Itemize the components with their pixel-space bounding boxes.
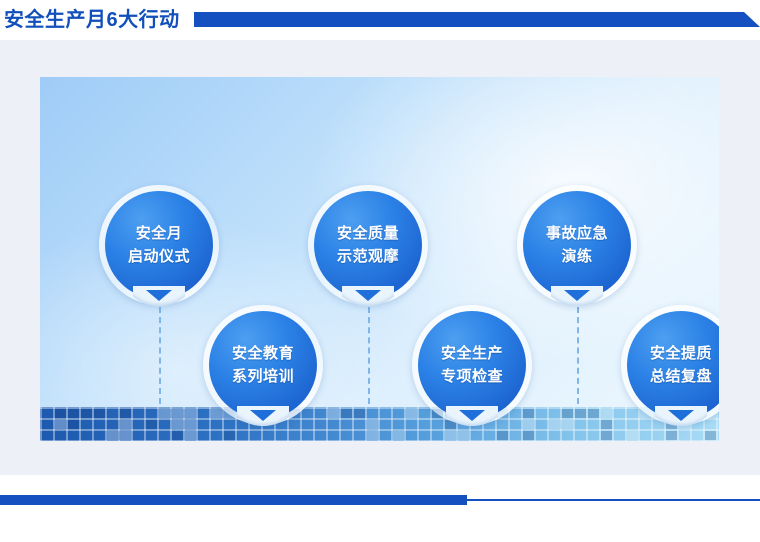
base-speck — [666, 431, 677, 440]
bubble-3-label-line2: 示范观摩 — [337, 246, 399, 268]
bubble-1-label-line2: 启动仪式 — [128, 246, 190, 268]
base-speck — [601, 420, 612, 429]
base-speck — [68, 409, 79, 418]
base-speck — [575, 409, 586, 418]
base-speck — [55, 420, 66, 429]
bubble-2-notch — [237, 406, 289, 426]
base-speck — [549, 420, 560, 429]
base-speck — [185, 409, 196, 418]
bubble-3-label-line1: 安全质量 — [337, 223, 399, 245]
base-speck — [55, 409, 66, 418]
bubble-6[interactable]: 安全提质总结复盘 — [621, 305, 719, 425]
footer-thick-bar — [0, 495, 467, 505]
base-speck — [185, 431, 196, 440]
base-speck — [367, 420, 378, 429]
bubble-2-label-line2: 系列培训 — [232, 366, 294, 388]
bubble-1-notch — [133, 286, 185, 306]
base-speck — [601, 431, 612, 440]
base-speck — [159, 409, 170, 418]
base-speck — [367, 431, 378, 440]
bubble-6-label-line2: 总结复盘 — [650, 366, 712, 388]
bubble-1-core: 安全月启动仪式 — [105, 191, 213, 299]
base-speck — [224, 431, 235, 440]
bubble-1[interactable]: 安全月启动仪式 — [99, 185, 219, 305]
base-speck — [120, 431, 131, 440]
bubble-4[interactable]: 安全生产专项检查 — [412, 305, 532, 425]
bubble-3-core: 安全质量示范观摩 — [314, 191, 422, 299]
bubble-5[interactable]: 事故应急演练 — [517, 185, 637, 305]
bubble-6-label-line1: 安全提质 — [650, 343, 712, 365]
base-speck — [354, 409, 365, 418]
bubble-4-label-line2: 专项检查 — [441, 366, 503, 388]
pixel-base-bar — [40, 407, 719, 441]
base-speck — [458, 431, 469, 440]
base-speck — [341, 409, 352, 418]
bubble-4-chevron-down-icon — [459, 410, 485, 421]
base-speck — [497, 431, 508, 440]
base-speck — [172, 409, 183, 418]
bubble-5-chevron-down-icon — [564, 290, 590, 301]
base-speck — [68, 420, 79, 429]
header-accent-bar-container — [194, 0, 760, 40]
bubble-2[interactable]: 安全教育系列培训 — [203, 305, 323, 425]
bubble-1-chevron-down-icon — [146, 290, 172, 301]
base-speck — [601, 409, 612, 418]
bubble-6-notch — [655, 406, 707, 426]
base-speck — [107, 431, 118, 440]
bubble-4-label-line1: 安全生产 — [441, 343, 503, 365]
base-speck — [562, 409, 573, 418]
bubble-5-label-line2: 演练 — [561, 246, 592, 268]
base-speck — [705, 431, 716, 440]
base-speck — [146, 420, 157, 429]
bubble-2-chevron-down-icon — [250, 410, 276, 421]
base-speck — [81, 409, 92, 418]
base-speck — [120, 409, 131, 418]
bubble-2-label-line1: 安全教育 — [232, 343, 294, 365]
page-footer — [0, 475, 760, 542]
base-speck — [94, 409, 105, 418]
base-speck — [328, 409, 339, 418]
bubble-3-chevron-down-icon — [355, 290, 381, 301]
bubble-4-notch — [446, 406, 498, 426]
base-speck — [393, 431, 404, 440]
base-speck — [172, 431, 183, 440]
infographic-panel: 安全月启动仪式安全教育系列培训安全质量示范观摩安全生产专项检查事故应急演练安全提… — [40, 77, 719, 441]
page-title: 安全生产月6大行动 — [4, 10, 180, 30]
bubble-1-label-line1: 安全月 — [136, 223, 183, 245]
base-speck — [523, 431, 534, 440]
base-speck — [185, 420, 196, 429]
pixel-base-grid — [40, 407, 719, 441]
bubble-3[interactable]: 安全质量示范观摩 — [308, 185, 428, 305]
base-speck — [120, 420, 131, 429]
bubble-3-notch — [342, 286, 394, 306]
base-speck — [627, 431, 638, 440]
bubble-5-notch — [551, 286, 603, 306]
base-speck — [588, 409, 599, 418]
page-header: 安全生产月6大行动 — [0, 0, 760, 40]
slide-stage: 安全月启动仪式安全教育系列培训安全质量示范观摩安全生产专项检查事故应急演练安全提… — [0, 45, 760, 475]
base-speck — [172, 420, 183, 429]
bubble-5-label-line1: 事故应急 — [546, 223, 608, 245]
header-accent-bar — [194, 12, 760, 27]
bubble-4-core: 安全生产专项检查 — [418, 311, 526, 419]
base-speck — [445, 431, 456, 440]
base-speck — [562, 420, 573, 429]
bubble-2-core: 安全教育系列培训 — [209, 311, 317, 419]
bubble-5-core: 事故应急演练 — [523, 191, 631, 299]
bubble-6-chevron-down-icon — [668, 410, 694, 421]
